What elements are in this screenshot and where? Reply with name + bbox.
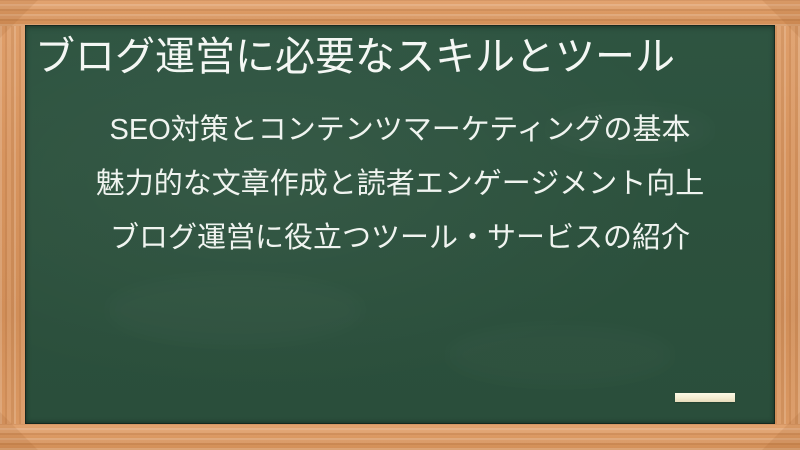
chalk-smudge [445, 325, 675, 385]
bullet-item-2: 魅力的な文章作成と読者エンゲージメント向上 [25, 157, 775, 211]
chalk-stick [675, 393, 735, 402]
chalkboard-slide: ブログ運営に必要なスキルとツール SEO対策とコンテンツマーケティングの基本 魅… [0, 0, 800, 450]
wooden-frame-bottom-rail [0, 424, 800, 450]
chalkboard: ブログ運営に必要なスキルとツール SEO対策とコンテンツマーケティングの基本 魅… [25, 25, 775, 424]
wooden-frame-top-rail [0, 0, 800, 26]
chalk-smudge [105, 275, 365, 345]
bullet-item-3: ブログ運営に役立つツール・サービスの紹介 [25, 211, 775, 265]
slide-title: ブログ運営に必要なスキルとツール [35, 31, 765, 83]
bullet-list: SEO対策とコンテンツマーケティングの基本 魅力的な文章作成と読者エンゲージメン… [25, 103, 775, 265]
bullet-item-1: SEO対策とコンテンツマーケティングの基本 [25, 103, 775, 157]
